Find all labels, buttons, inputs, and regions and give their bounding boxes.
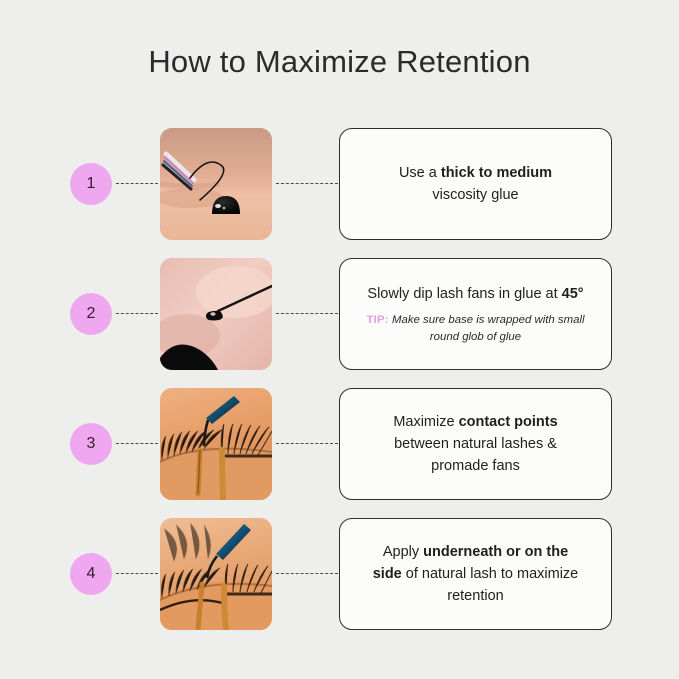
step-number-badge-4: 4 — [70, 553, 112, 595]
connector-photo-to-card-3 — [276, 443, 338, 444]
tip-label: TIP: — [367, 314, 389, 326]
step-text-1: Use a thick to mediumviscosity glue — [399, 162, 552, 206]
step-tip-2: TIP: Make sure base is wrapped with smal… — [354, 312, 597, 345]
connector-photo-to-card-4 — [276, 573, 338, 574]
step-number-label: 2 — [87, 306, 96, 322]
step-number-badge-1: 1 — [70, 163, 112, 205]
step-text-4: Apply underneath or on theside of natura… — [373, 541, 579, 607]
step-row-1: 1 — [0, 128, 679, 240]
step-photo-1 — [160, 128, 272, 240]
step-row-3: 3 — [0, 388, 679, 500]
connector-badge-to-photo-2 — [116, 313, 158, 314]
connector-badge-to-photo-3 — [116, 443, 158, 444]
step-number-label: 1 — [87, 176, 96, 192]
step-text-3: Maximize contact pointsbetween natural l… — [393, 411, 557, 477]
step-card-3: Maximize contact pointsbetween natural l… — [339, 388, 612, 500]
infographic-page: How to Maximize Retention 1 — [0, 0, 679, 679]
step-number-label: 4 — [87, 566, 96, 582]
step-photo-4 — [160, 518, 272, 630]
step-number-badge-2: 2 — [70, 293, 112, 335]
tip-text: Make sure base is wrapped with small rou… — [392, 314, 584, 343]
connector-badge-to-photo-4 — [116, 573, 158, 574]
step-row-4: 4 — [0, 518, 679, 630]
step-number-badge-3: 3 — [70, 423, 112, 465]
step-photo-3 — [160, 388, 272, 500]
step-row-2: 2 Slo — [0, 258, 679, 370]
connector-photo-to-card-2 — [276, 313, 338, 314]
step-photo-2 — [160, 258, 272, 370]
page-title: How to Maximize Retention — [0, 44, 679, 80]
connector-badge-to-photo-1 — [116, 183, 158, 184]
step-card-1: Use a thick to mediumviscosity glue — [339, 128, 612, 240]
step-number-label: 3 — [87, 436, 96, 452]
step-card-2: Slowly dip lash fans in glue at 45° TIP:… — [339, 258, 612, 370]
step-card-4: Apply underneath or on theside of natura… — [339, 518, 612, 630]
step-text-2: Slowly dip lash fans in glue at 45° — [367, 283, 583, 305]
connector-photo-to-card-1 — [276, 183, 338, 184]
